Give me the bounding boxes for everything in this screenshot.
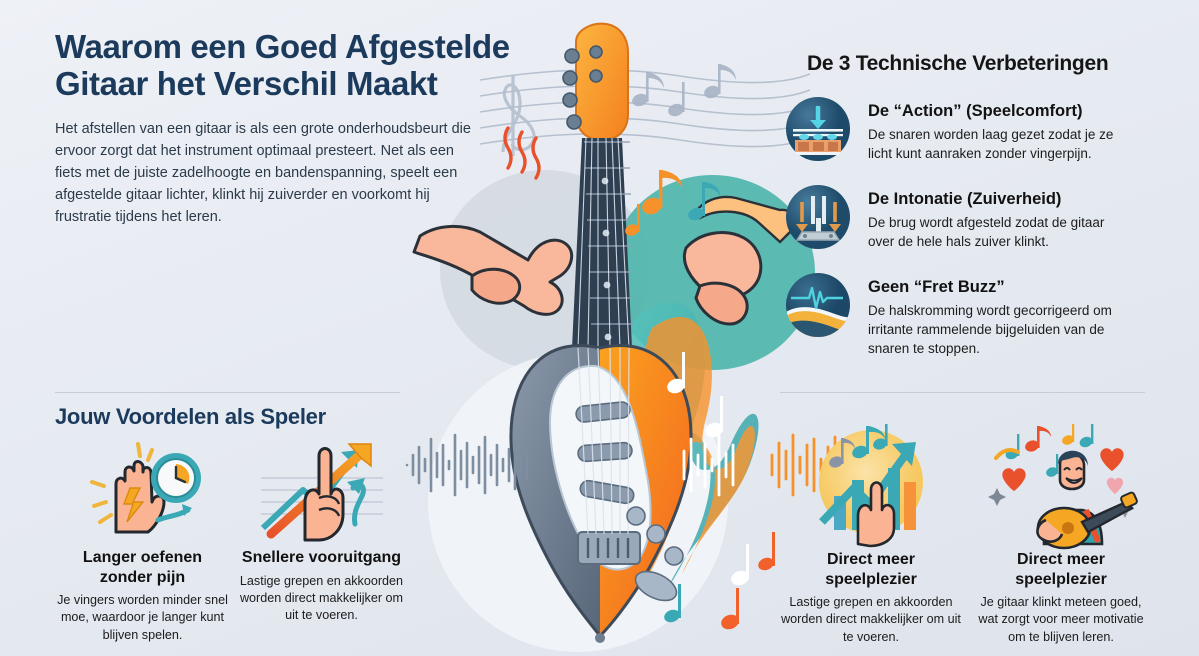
growth-chart-hand-icon: [780, 424, 962, 546]
happy-guitarist-icon: [970, 424, 1152, 546]
benefit-card: Direct meer speelplezier Lastige grepen …: [780, 424, 962, 646]
benefit-card-title: Snellere vooruitgang: [234, 548, 409, 568]
tech-item-text: Geen “Fret Buzz” De halskromming wordt g…: [868, 270, 1130, 358]
string-action-lowering-icon: [785, 96, 851, 162]
benefit-card-title: Langer oefenen zonder pijn: [55, 548, 230, 587]
neck-relief-waveform-icon: [785, 272, 851, 338]
left-hand-on-neck: [414, 226, 572, 314]
divider-left: [55, 392, 400, 393]
technical-improvements-heading: De 3 Technische Verbeteringen: [807, 52, 1160, 76]
tech-item: De “Action” (Speelcomfort) De snaren wor…: [785, 94, 1160, 163]
tech-item-text: De “Action” (Speelcomfort) De snaren wor…: [868, 94, 1130, 163]
pointing-hand-rising-arrow-icon: [234, 436, 409, 544]
page-title: Waarom een Goed Afgestelde Gitaar het Ve…: [55, 28, 555, 103]
hero-paragraph: Het afstellen van een gitaar is als een …: [55, 118, 475, 228]
waveform-left-grey: [405, 425, 540, 505]
tech-item-title: Geen “Fret Buzz”: [868, 278, 1130, 298]
player-benefits-section: Jouw Voordelen als Speler: [55, 404, 410, 644]
tech-item: Geen “Fret Buzz” De halskromming wordt g…: [785, 270, 1160, 358]
tech-item-body: De halskromming wordt gecorrigeerd om ir…: [868, 301, 1130, 358]
infographic-canvas: Waarom een Goed Afgestelde Gitaar het Ve…: [0, 0, 1199, 656]
benefit-card: Direct meer speelplezier Je gitaar klink…: [970, 424, 1152, 646]
hero-block: Waarom een Goed Afgestelde Gitaar het Ve…: [55, 28, 555, 228]
benefit-card-body: Je vingers worden minder snel moe, waard…: [55, 592, 230, 644]
tech-item-body: De snaren worden laag gezet zodat je ze …: [868, 125, 1130, 163]
divider-right: [780, 392, 1145, 393]
benefit-card: Langer oefenen zonder pijn Je vingers wo…: [55, 436, 230, 644]
tech-item: De Intonatie (Zuiverheid) De brug wordt …: [785, 182, 1160, 251]
player-benefits-heading: Jouw Voordelen als Speler: [55, 404, 410, 430]
benefit-card-body: Lastige grepen en akkoorden worden direc…: [780, 594, 962, 646]
tuning-fork-bridge-icon: [785, 184, 851, 250]
tech-item-body: De brug wordt afgesteld zodat de gitaar …: [868, 213, 1130, 251]
tech-item-text: De Intonatie (Zuiverheid) De brug wordt …: [868, 182, 1130, 251]
benefit-card-title: Direct meer speelplezier: [780, 550, 962, 589]
tech-item-title: De “Action” (Speelcomfort): [868, 102, 1130, 122]
benefit-card-body: Lastige grepen en akkoorden worden direc…: [234, 573, 409, 625]
extra-benefits-section: Direct meer speelplezier Lastige grepen …: [780, 424, 1160, 646]
benefit-card: Snellere vooruitgang Lastige grepen en a…: [234, 436, 409, 644]
technical-improvements-section: De 3 Technische Verbeteringen: [785, 52, 1160, 377]
tech-item-title: De Intonatie (Zuiverheid): [868, 190, 1130, 210]
hand-with-clock-icon: [55, 436, 230, 544]
benefit-card-title: Direct meer speelplezier: [970, 550, 1152, 589]
benefit-card-body: Je gitaar klinkt meteen goed, wat zorgt …: [970, 594, 1152, 646]
